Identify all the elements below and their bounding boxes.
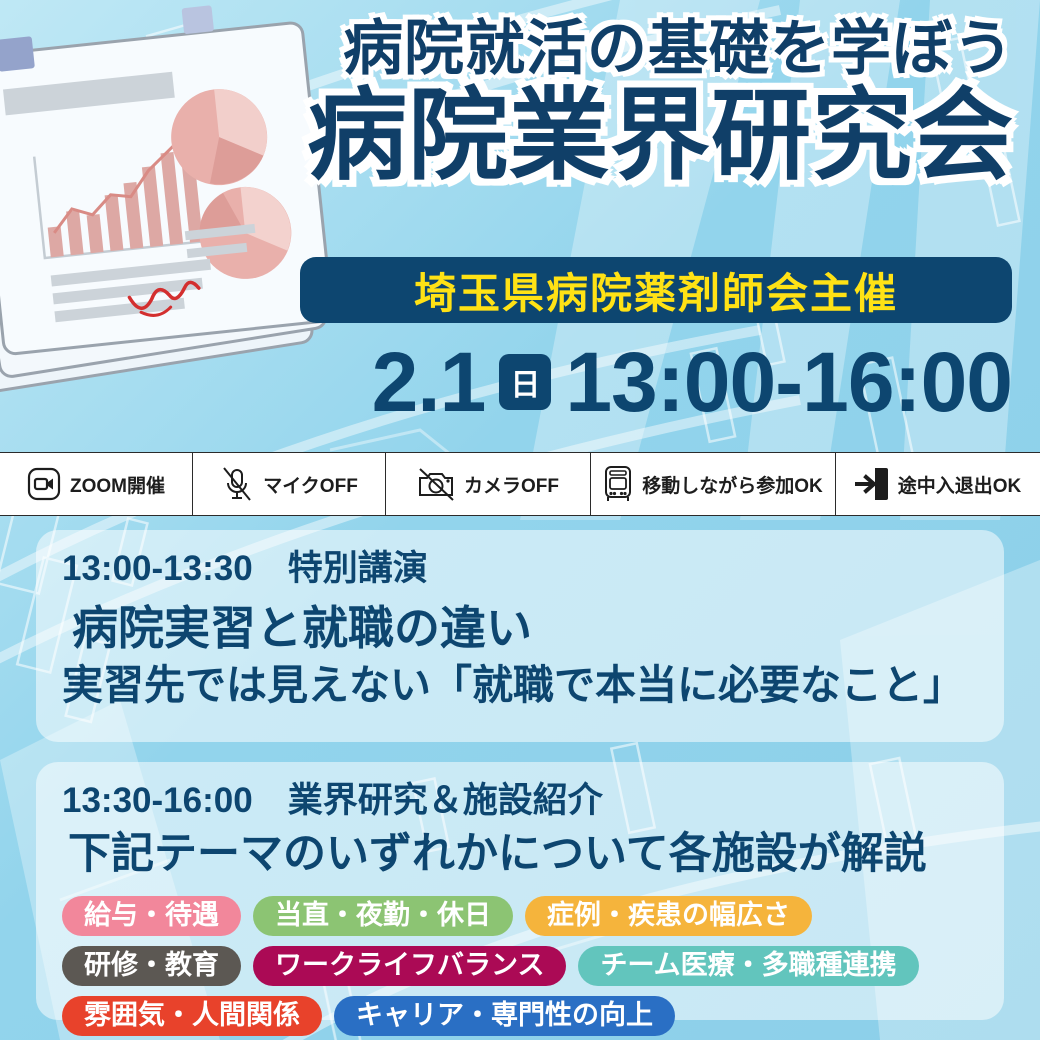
topic-tag: 給与・待遇	[62, 896, 241, 936]
organizer-label: 埼玉県病院薬剤師会主催	[414, 260, 898, 321]
feature-label: マイクOFF	[263, 471, 358, 498]
event-time: 13:00-16:00	[565, 340, 1012, 424]
topic-tag: キャリア・専門性の向上	[334, 996, 675, 1036]
feature-zoom: ZOOM開催	[0, 453, 193, 515]
feature-mobile-join: 移動しながら参加OK	[591, 453, 836, 515]
topic-tag: 当直・夜勤・休日	[253, 896, 513, 936]
poster-subtitle: 病院就活の基礎を学ぼう	[0, 18, 1014, 80]
exit-door-icon	[855, 466, 889, 502]
bus-icon	[603, 465, 633, 503]
day-of-week-badge: 日	[499, 354, 551, 410]
event-poster: 病院就活の基礎を学ぼう 病院業界研究会 埼玉県病院薬剤師会主催 2.1 日 13…	[0, 0, 1040, 1040]
feature-free-entry-exit: 途中入退出OK	[836, 453, 1040, 515]
microphone-off-icon	[220, 466, 254, 502]
topic-tag: 研修・教育	[62, 946, 241, 986]
video-camera-icon	[27, 467, 61, 501]
topic-tag: 雰囲気・人間関係	[62, 996, 322, 1036]
topic-tag-list: 給与・待遇当直・夜勤・休日症例・疾患の幅広さ研修・教育ワークライフバランスチーム…	[62, 896, 978, 1036]
topic-tag: チーム医療・多職種連携	[578, 946, 918, 986]
feature-bar: ZOOM開催 マイクOFF	[0, 452, 1040, 516]
feature-label: カメラOFF	[464, 471, 559, 498]
session-1-subtitle: 実習先では見えない「就職で本当に必要なこと」	[62, 660, 978, 711]
date-time-line: 2.1 日 13:00-16:00	[0, 334, 1040, 430]
feature-mic-off: マイクOFF	[193, 453, 386, 515]
session-panel-2: 13:30-16:00 業界研究＆施設紹介 下記テーマのいずれかについて各施設が…	[36, 762, 1004, 1020]
event-date: 2.1	[372, 340, 486, 424]
topic-tag: ワークライフバランス	[253, 946, 566, 986]
poster-title: 病院業界研究会	[0, 86, 1014, 186]
session-2-description: 下記テーマのいずれかについて各施設が解説	[68, 828, 978, 882]
feature-label: ZOOM開催	[70, 471, 165, 498]
headline-block: 病院就活の基礎を学ぼう 病院業界研究会	[0, 18, 1040, 186]
camera-off-icon	[417, 467, 455, 501]
session-2-time: 13:30-16:00 業界研究＆施設紹介	[62, 780, 978, 822]
session-panel-1: 13:00-13:30 特別講演 病院実習と就職の違い 実習先では見えない「就職…	[36, 530, 1004, 742]
feature-camera-off: カメラOFF	[386, 453, 591, 515]
session-1-time: 13:00-13:30 特別講演	[62, 548, 978, 590]
session-1-title: 病院実習と就職の違い	[72, 600, 978, 658]
organizer-banner: 埼玉県病院薬剤師会主催	[300, 257, 1012, 323]
topic-tag: 症例・疾患の幅広さ	[525, 896, 812, 936]
feature-label: 途中入退出OK	[898, 471, 1022, 498]
feature-label: 移動しながら参加OK	[642, 471, 823, 498]
